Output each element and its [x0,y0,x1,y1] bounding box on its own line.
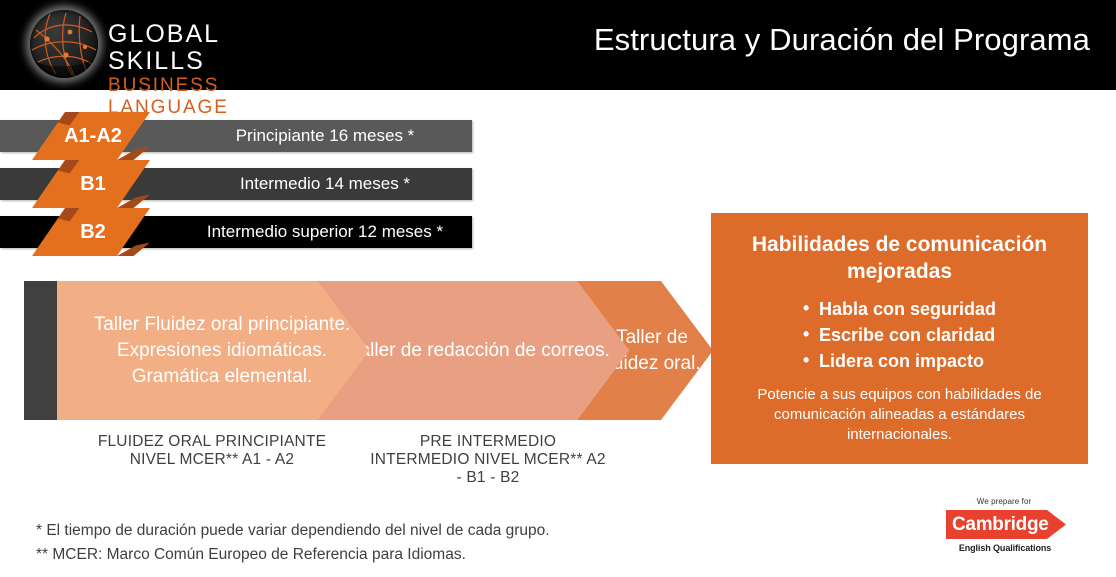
process-step-1-text: Taller Fluidez oral principiante: Expres… [75,312,369,390]
list-item: Escribe con claridad [803,322,1074,348]
cambridge-logo: We prepare for Cambridge English Qualifi… [946,497,1076,563]
cambridge-subtitle: English Qualifications [946,543,1064,553]
list-item: Lidera con impacto [803,348,1074,374]
list-item: Habla con seguridad [803,296,1074,322]
footnote-2: ** MCER: Marco Común Europeo de Referenc… [36,543,550,567]
level-label-a1a2: Principiante 16 meses * [185,120,465,152]
process-step-2-text: Taller de redacción de correos. [340,338,620,364]
process-flow: Taller Fluidez oral principiante: Expres… [24,281,714,420]
cambridge-banner: Cambridge [946,510,1066,539]
outcomes-title: Habilidades de comunicación mejoradas [725,227,1074,285]
header-bar: GLOBAL SKILLS BUSINESS LANGUAGE Estructu… [0,0,1116,90]
outcomes-note: Potencie a sus equipos con habilidades d… [725,385,1074,445]
logo: GLOBAL SKILLS BUSINESS LANGUAGE [22,5,322,85]
levels-section: Principiante 16 meses * Intermedio 14 me… [0,110,500,250]
process-caption-2: PRE INTERMEDIO INTERMEDIO NIVEL MCER** A… [368,433,608,487]
level-tag-a1a2: A1-A2 [32,112,150,160]
cambridge-name: Cambridge [946,514,1049,536]
process-start-block [24,281,57,420]
tag-text-b1: B1 [76,173,106,196]
level-label-b1: Intermedio 14 meses * [185,168,465,200]
globe-icon [30,10,98,78]
tag-text-a1a2: A1-A2 [60,125,122,148]
process-step-1: Taller Fluidez oral principiante: Expres… [57,281,369,420]
footnote-1: * El tiempo de duración puede variar dep… [36,519,550,543]
page-title: Estructura y Duración del Programa [594,22,1090,58]
outcomes-list: Habla con seguridad Escribe con claridad… [725,296,1074,374]
footnotes: * El tiempo de duración puede variar dep… [36,519,550,567]
outcomes-panel: Habilidades de comunicación mejoradas Ha… [711,213,1088,464]
level-tag-b1: B1 [32,160,150,208]
level-tag-b2: B2 [32,208,150,256]
brand-text: GLOBAL SKILLS BUSINESS LANGUAGE [108,21,322,119]
brand-name: GLOBAL SKILLS [108,21,322,75]
level-label-b2: Intermedio superior 12 meses * [185,216,465,248]
cambridge-prefix: We prepare for [950,497,1058,507]
process-caption-1: FLUIDEZ ORAL PRINCIPIANTE NIVEL MCER** A… [92,433,332,469]
tag-text-b2: B2 [76,221,106,244]
